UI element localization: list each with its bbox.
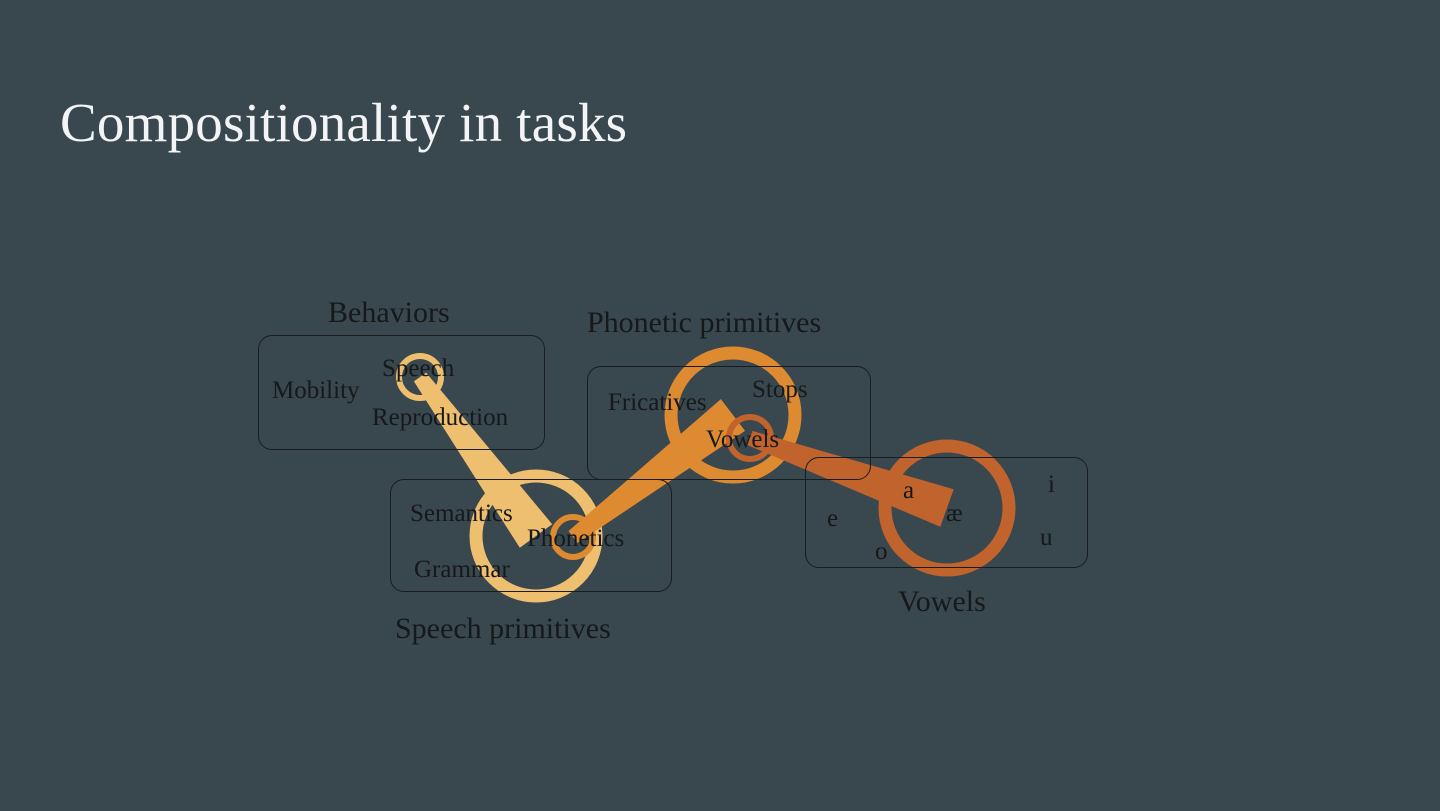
item-label-vowels-0: e bbox=[827, 505, 838, 533]
group-label-speech-primitives: Speech primitives bbox=[395, 612, 611, 646]
slide-canvas: Compositionality in tasks BehaviorsMobil… bbox=[0, 0, 1440, 811]
compositionality-diagram: BehaviorsMobilitySpeechReproductionSpeec… bbox=[0, 0, 1440, 811]
item-label-speech-primitives-2: Grammar bbox=[414, 556, 510, 584]
item-label-vowels-5: u bbox=[1040, 524, 1053, 552]
item-label-phonetic-primitives-1: Stops bbox=[752, 376, 808, 404]
item-label-phonetic-primitives-0: Fricatives bbox=[608, 389, 707, 417]
item-label-vowels-4: o bbox=[875, 538, 888, 566]
item-label-vowels-1: a bbox=[903, 477, 914, 505]
group-label-vowels: Vowels bbox=[898, 585, 986, 619]
group-label-phonetic-primitives: Phonetic primitives bbox=[587, 306, 821, 340]
item-label-behaviors-1: Speech bbox=[382, 355, 454, 383]
item-label-speech-primitives-0: Semantics bbox=[410, 500, 513, 528]
item-label-vowels-2: æ bbox=[946, 500, 963, 528]
item-label-phonetic-primitives-2: Vowels bbox=[706, 426, 779, 454]
item-label-behaviors-2: Reproduction bbox=[372, 404, 508, 432]
item-label-behaviors-0: Mobility bbox=[272, 377, 360, 405]
group-label-behaviors: Behaviors bbox=[328, 296, 450, 330]
item-label-vowels-3: i bbox=[1048, 471, 1055, 499]
item-label-speech-primitives-1: Phonetics bbox=[527, 525, 624, 553]
